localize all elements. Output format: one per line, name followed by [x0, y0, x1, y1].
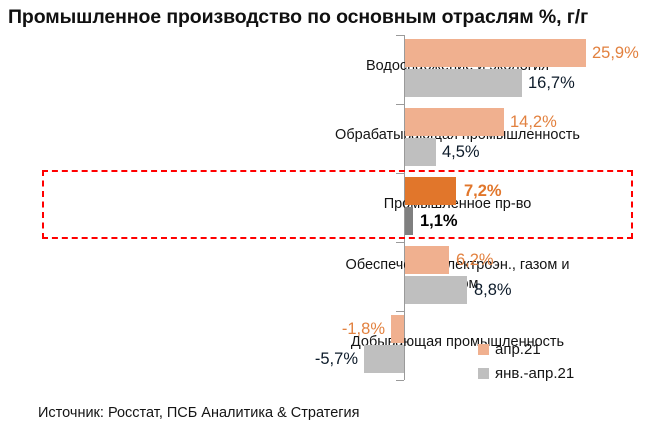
chart-row: Водоснабжение и экология 25,9% 16,7% — [0, 35, 655, 104]
axis-tick — [396, 380, 404, 381]
chart-root: Промышленное производство по основным от… — [0, 0, 655, 441]
bar-value-jan-apr21: 8,8% — [474, 276, 512, 304]
bar-value-apr21: 25,9% — [592, 39, 639, 67]
bar-apr21 — [405, 177, 456, 205]
bar-jan-apr21 — [405, 138, 436, 166]
bar-value-jan-apr21: 1,1% — [420, 207, 458, 235]
chart-legend: апр.21 янв.-апр.21 — [478, 337, 574, 385]
bar-value-apr21: 6,2% — [456, 246, 494, 274]
bar-apr21 — [405, 39, 586, 67]
bar-value-apr21: -1,8% — [311, 315, 385, 343]
bar-apr21 — [391, 315, 404, 343]
legend-label: апр.21 — [495, 341, 541, 358]
bar-value-apr21: 7,2% — [464, 177, 502, 205]
bar-value-jan-apr21: 16,7% — [528, 69, 575, 97]
plot-area: Водоснабжение и экология 25,9% 16,7% Обр… — [0, 33, 655, 383]
chart-row: Обрабатывающая промышленность 14,2% 4,5% — [0, 104, 655, 173]
chart-title: Промышленное производство по основным от… — [8, 6, 648, 29]
chart-row-highlighted: Промышленное пр-во 7,2% 1,1% — [0, 173, 655, 242]
bar-jan-apr21 — [405, 276, 467, 304]
legend-label: янв.-апр.21 — [495, 365, 574, 382]
legend-swatch-icon — [478, 368, 489, 379]
bar-apr21 — [405, 246, 449, 274]
legend-item-apr21[interactable]: апр.21 — [478, 337, 574, 361]
source-note: Источник: Росстат, ПСБ Аналитика & Страт… — [38, 405, 360, 421]
bar-value-jan-apr21: -5,7% — [284, 345, 358, 373]
bar-value-apr21: 14,2% — [510, 108, 557, 136]
bar-jan-apr21 — [405, 207, 413, 235]
bar-value-jan-apr21: 4,5% — [442, 138, 480, 166]
bar-jan-apr21 — [405, 69, 522, 97]
legend-swatch-icon — [478, 344, 489, 355]
legend-item-jan-apr21[interactable]: янв.-апр.21 — [478, 361, 574, 385]
bar-jan-apr21 — [364, 345, 404, 373]
chart-row: Обеспечение электроэн., газом и паром 6,… — [0, 242, 655, 311]
bar-apr21 — [405, 108, 504, 136]
